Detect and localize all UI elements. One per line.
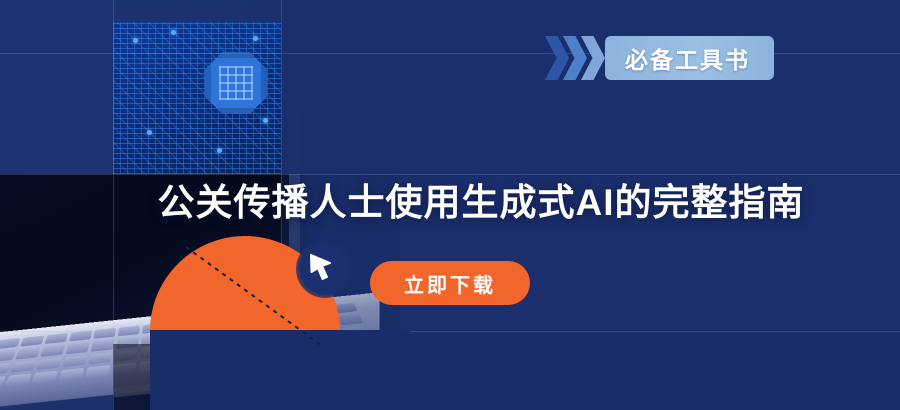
collage-panel-tint — [0, 0, 113, 174]
badge-label: 必备工具书 — [625, 41, 750, 75]
chevron-right-icon — [545, 36, 569, 80]
cpu-chip-icon — [205, 52, 267, 114]
promo-banner: 必备工具书 公关传播人士使用生成式AI的完整指南 立即下载 — [0, 0, 900, 410]
orange-circle-mask — [150, 330, 410, 410]
collage-panel-tint — [281, 0, 400, 174]
badge-plate: 必备工具书 — [605, 36, 774, 80]
page-title: 公关传播人士使用生成式AI的完整指南 — [0, 172, 900, 226]
cursor-arrow-icon — [296, 240, 354, 298]
circuit-board-photo — [113, 22, 281, 174]
download-button[interactable]: 立即下载 — [370, 261, 530, 305]
badge: 必备工具书 — [545, 36, 774, 80]
bottom-background-block — [336, 330, 900, 410]
